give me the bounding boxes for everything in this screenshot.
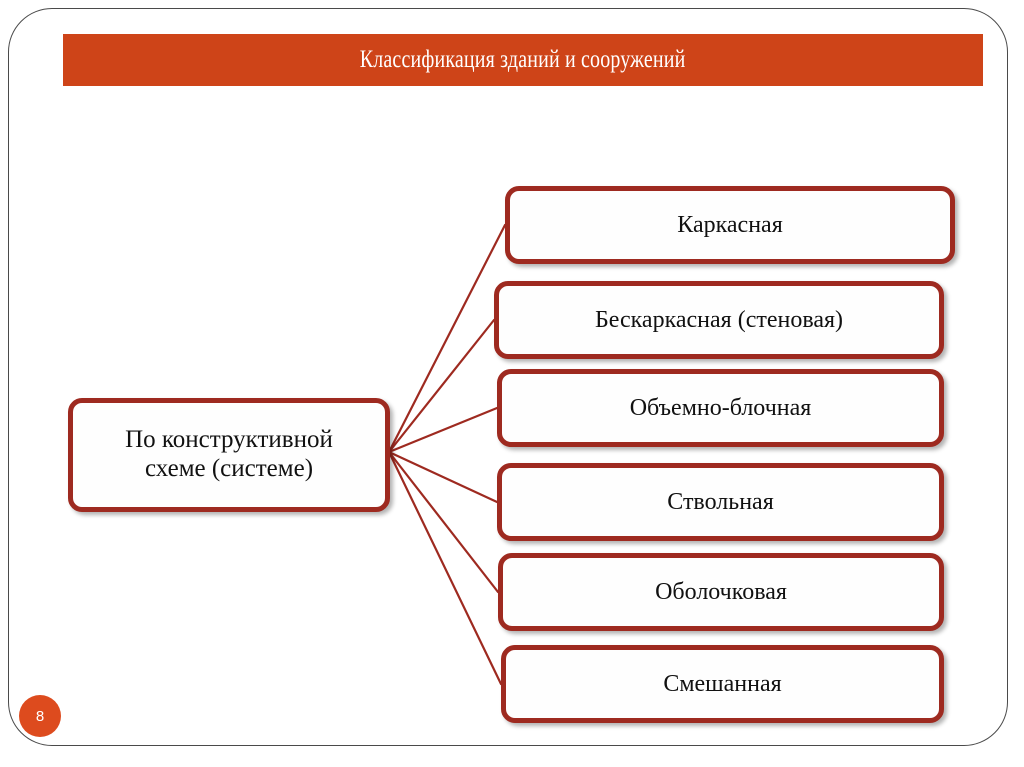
diagram-root-label: По конструктивной схеме (системе) xyxy=(125,426,333,484)
diagram-root-node[interactable]: По конструктивной схеме (системе) xyxy=(68,398,390,512)
connector-line-2 xyxy=(389,320,494,452)
connector-line-5 xyxy=(389,452,498,592)
diagram-branch-node-stvolnaya[interactable]: Ствольная xyxy=(497,463,944,541)
slide-page-number-text: 8 xyxy=(36,708,44,725)
diagram-branch-node-karkasnaya[interactable]: Каркасная xyxy=(505,186,955,264)
diagram-root-label-line2: схеме (системе) xyxy=(145,455,313,482)
diagram-branch-label: Объемно-блочная xyxy=(630,395,812,422)
diagram-branch-label: Ствольная xyxy=(667,489,774,516)
slide-title-banner: Классификация зданий и сооружений xyxy=(63,34,983,86)
connector-line-4 xyxy=(389,452,497,502)
connector-line-3 xyxy=(389,408,497,452)
diagram-branch-label: Смешанная xyxy=(663,671,781,698)
connector-line-6 xyxy=(389,452,501,684)
presentation-slide: Классификация зданий и сооружений По кон… xyxy=(0,0,1024,767)
diagram-branch-node-smeshannaya[interactable]: Смешанная xyxy=(501,645,944,723)
diagram-branch-node-obolochkovaya[interactable]: Оболочковая xyxy=(498,553,944,631)
diagram-root-label-line1: По конструктивной xyxy=(125,426,333,453)
diagram-branch-label: Оболочковая xyxy=(655,579,787,606)
connector-line-1 xyxy=(389,225,505,452)
slide-title-text: Классификация зданий и сооружений xyxy=(360,46,686,74)
diagram-branch-node-obyemno-blochnaya[interactable]: Объемно-блочная xyxy=(497,369,944,447)
diagram-branch-label: Бескаркасная (стеновая) xyxy=(595,307,843,334)
diagram-branch-node-beskarkasnaya[interactable]: Бескаркасная (стеновая) xyxy=(494,281,944,359)
slide-page-number-badge: 8 xyxy=(19,695,61,737)
diagram-branch-label: Каркасная xyxy=(677,212,782,239)
